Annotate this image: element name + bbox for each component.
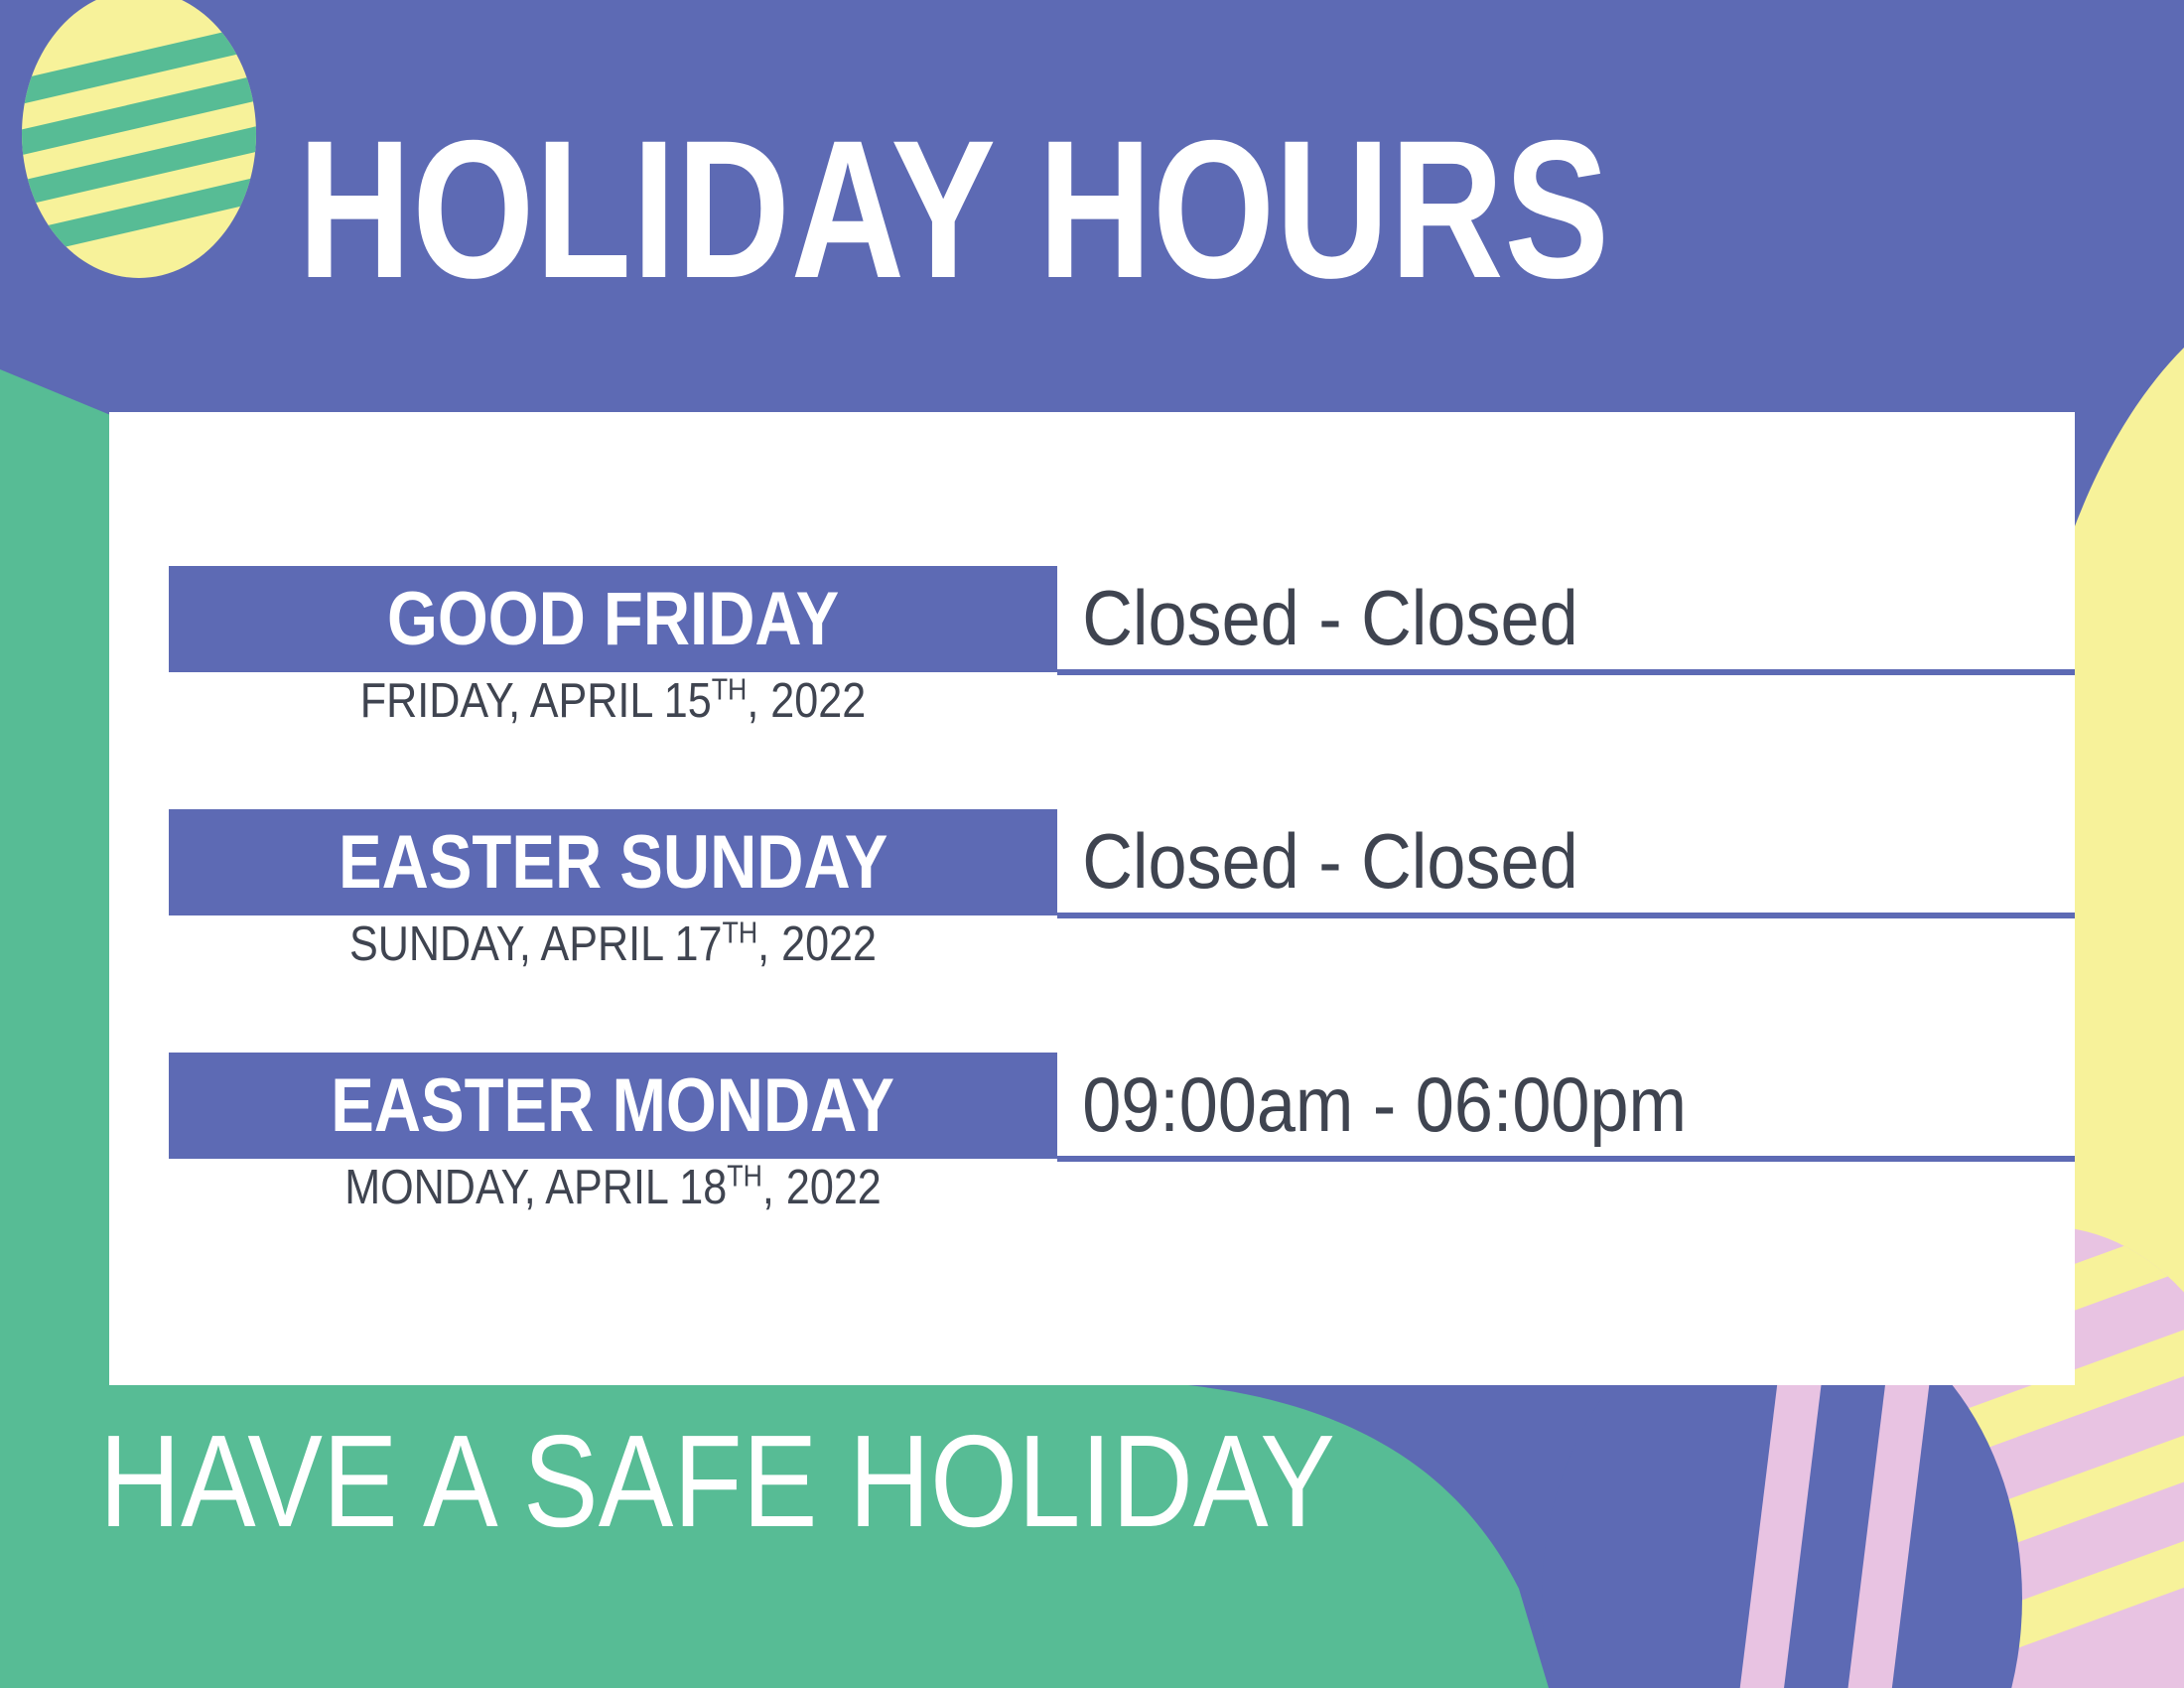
hours-value: Closed - Closed [1057,822,1578,900]
holiday-hours-poster: HOLIDAY HOURS GOOD FRIDAY FRIDAY, APRIL … [0,0,2184,1688]
day-name: EASTER MONDAY [332,1068,895,1144]
hours-cell: Closed - Closed [1057,809,2075,918]
day-date-ordinal: TH [727,1160,762,1194]
hours-cell: 09:00am - 06:00pm [1057,1053,2075,1162]
day-date: SUNDAY, APRIL 17TH, 2022 [222,920,1005,969]
day-date-year: , 2022 [747,674,866,728]
day-label-bar: EASTER MONDAY [169,1053,1057,1159]
hours-value: Closed - Closed [1057,579,1578,656]
day-name: GOOD FRIDAY [387,582,839,657]
day-date-prefix: MONDAY, APRIL 18 [344,1161,727,1214]
hours-value: 09:00am - 06:00pm [1057,1065,1687,1143]
day-date: FRIDAY, APRIL 15TH, 2022 [222,677,1005,726]
day-date-year: , 2022 [762,1161,882,1214]
day-name: EASTER SUNDAY [339,825,887,901]
page-title: HOLIDAY HOURS [298,111,1648,308]
hours-cell: Closed - Closed [1057,566,2075,675]
day-label-bar: EASTER SUNDAY [169,809,1057,915]
day-date-prefix: FRIDAY, APRIL 15 [360,674,712,728]
schedule-card: GOOD FRIDAY FRIDAY, APRIL 15TH, 2022 Clo… [109,412,2075,1385]
day-date-ordinal: TH [722,916,757,950]
footer-message: HAVE A SAFE HOLIDAY [99,1416,1335,1547]
day-label-bar: GOOD FRIDAY [169,566,1057,672]
day-date-ordinal: TH [712,673,748,707]
day-date-year: , 2022 [757,917,877,971]
day-date: MONDAY, APRIL 18TH, 2022 [222,1164,1005,1212]
day-date-prefix: SUNDAY, APRIL 17 [349,917,722,971]
